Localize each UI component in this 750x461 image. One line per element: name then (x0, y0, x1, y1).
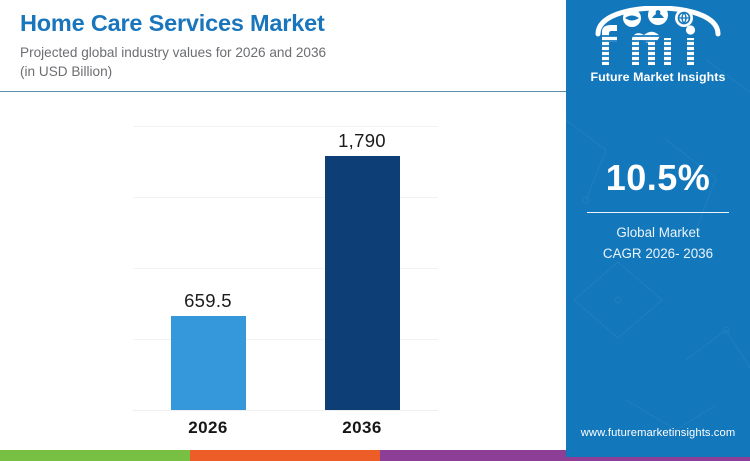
subtitle-line-1: Projected global industry values for 202… (20, 43, 566, 62)
header: Home Care Services Market Projected glob… (0, 0, 566, 92)
cagr-block: 10.5% Global Market CAGR 2026- 2036 (566, 160, 750, 265)
logo-caption: Future Market Insights (566, 70, 750, 84)
bar-2026[interactable] (171, 316, 246, 410)
cagr-divider (587, 212, 729, 213)
page-title: Home Care Services Market (20, 10, 566, 38)
cagr-caption-line-2: CAGR 2026- 2036 (566, 244, 750, 265)
cagr-value: 10.5% (566, 160, 750, 196)
x-axis-label-2026: 2026 (128, 418, 288, 438)
footer-panel-overlay (566, 450, 750, 457)
footer-segment-orange (190, 450, 380, 461)
fmi-logo-icon (592, 6, 724, 68)
globe-badge-icons (623, 6, 693, 27)
axis-baseline (133, 410, 438, 411)
x-axis-label-2036: 2036 (282, 418, 442, 438)
side-panel: Future Market Insights 10.5% Global Mark… (566, 0, 750, 461)
logo-block: Future Market Insights (566, 6, 750, 84)
footer-color-bar (0, 450, 566, 461)
bar-value-label-2036: 1,790 (282, 130, 442, 152)
subtitle-line-2: (in USD Billion) (20, 62, 566, 81)
bar-2036[interactable] (325, 156, 400, 410)
infographic-root: Home Care Services Market Projected glob… (0, 0, 750, 461)
cagr-caption-line-1: Global Market (566, 223, 750, 244)
bar-chart: 659.5 1,790 2026 2036 (0, 92, 566, 448)
footer-segment-green (0, 450, 190, 461)
plot-area: 659.5 1,790 2026 2036 (133, 126, 438, 410)
footer-segment-purple (380, 450, 566, 461)
website-url[interactable]: www.futuremarketinsights.com (566, 427, 750, 439)
bar-value-label-2026: 659.5 (128, 290, 288, 312)
gridline (133, 126, 438, 127)
